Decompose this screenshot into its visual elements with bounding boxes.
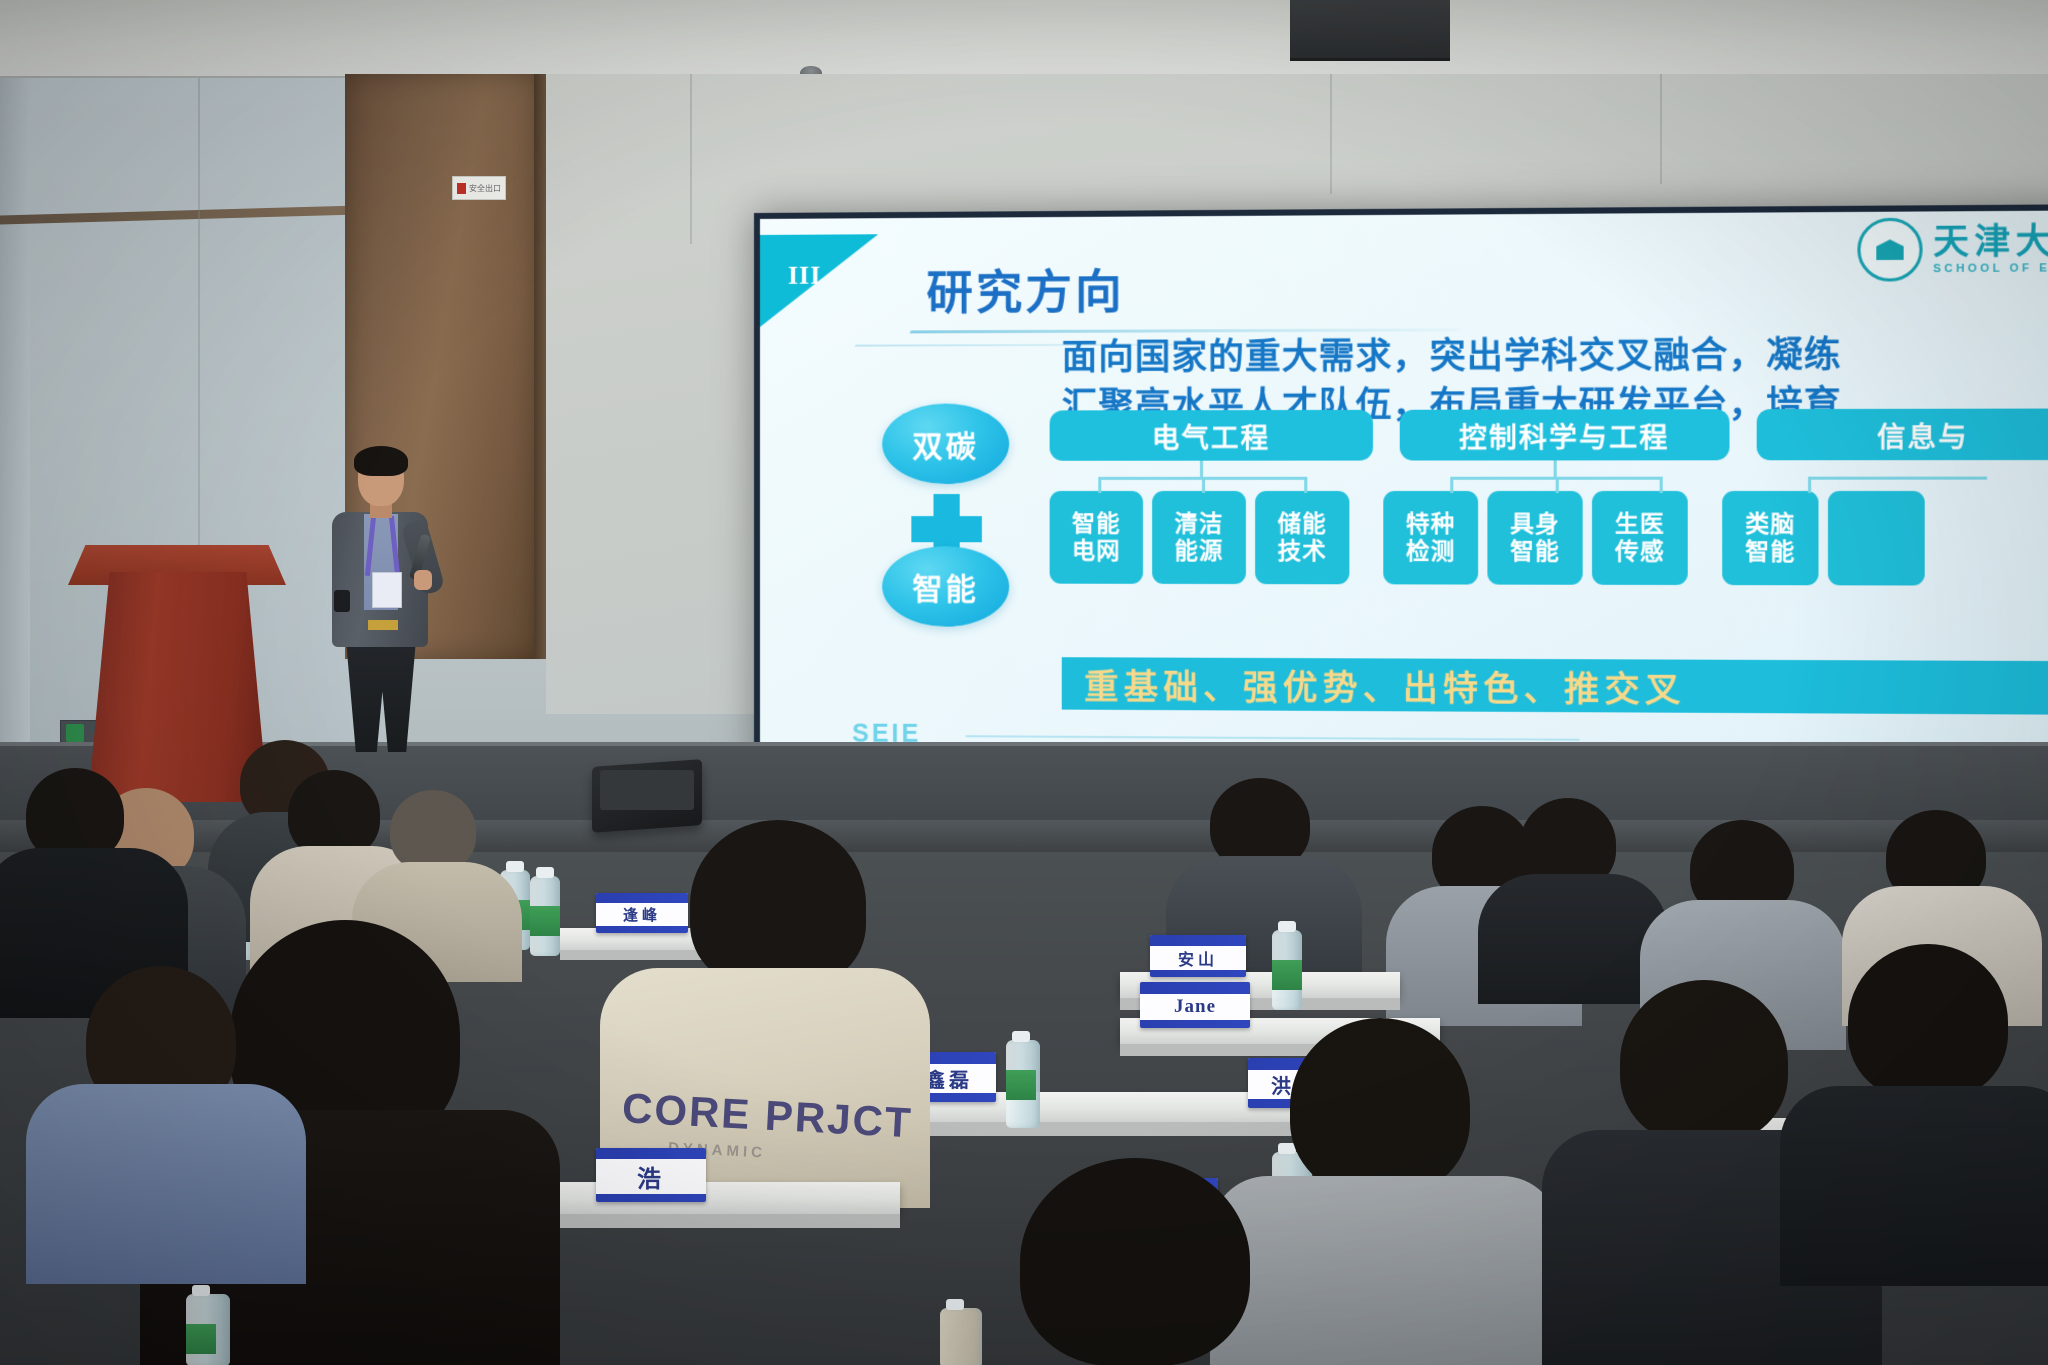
ceiling xyxy=(0,0,2048,78)
audience-shoulders xyxy=(1210,1176,1560,1365)
wall-seam xyxy=(690,74,692,244)
presentation-slide[interactable]: III 研究方向 天津大 SCHOOL OF E 面向国家的重大需求，突出学科交… xyxy=(760,210,2048,772)
screenshot-root: 安全出口 III 研究方向 天津大 SCHOOL OF E 面向国家的重大需求，… xyxy=(0,0,2048,1365)
sub-box-line1: 类脑 xyxy=(1745,510,1795,538)
head-box-2: 信息与 xyxy=(1756,408,2048,460)
research-directions-chart: 电气工程 控制科学与工程 信息与 智能 xyxy=(1050,408,2048,585)
connector-line xyxy=(1202,477,1205,493)
bottle-cap xyxy=(1012,1031,1030,1042)
slide-lead-line-1: 面向国家的重大需求，突出学科交叉融合，凝练 xyxy=(1062,330,2048,383)
nameplate-header xyxy=(596,893,688,903)
sub-box-line2: 技术 xyxy=(1278,538,1327,566)
bottle-label xyxy=(1272,960,1302,990)
audience-head-foreground xyxy=(1290,1018,1470,1196)
sub-box-line1: 具身 xyxy=(1510,510,1560,538)
nameplate-header xyxy=(1140,982,1250,994)
nameplate-1: 逢峰 xyxy=(596,893,688,933)
nameplate-3: Jane xyxy=(1140,982,1250,1028)
pill-shuangtan: 双碳 xyxy=(882,403,1009,484)
audience-shoulders xyxy=(26,1084,306,1284)
audience-head xyxy=(1848,944,2008,1100)
university-name-cn: 天津大 xyxy=(1933,224,2048,260)
nameplate-footer xyxy=(1140,1020,1250,1028)
water-bottle xyxy=(1272,930,1302,1010)
water-bottle xyxy=(186,1294,230,1365)
ceiling-vent xyxy=(1290,0,1450,61)
bottle-cap xyxy=(946,1299,964,1310)
chart-header-row: 电气工程 控制科学与工程 信息与 xyxy=(1050,408,2048,460)
crest-building-glyph xyxy=(1876,239,1903,260)
nameplate-6: 浩 xyxy=(596,1148,706,1202)
slide-title: 研究方向 xyxy=(926,255,1124,322)
wall-seam xyxy=(1330,74,1332,194)
exit-sign-icon: 安全出口 xyxy=(452,176,506,200)
door-sign-label: 安全出口 xyxy=(469,183,501,194)
sub-box-line1: 清洁 xyxy=(1175,510,1224,537)
projection-screen-frame: III 研究方向 天津大 SCHOOL OF E 面向国家的重大需求，突出学科交… xyxy=(754,204,2048,778)
connector-line xyxy=(1808,477,1987,480)
sub-box-line1: 智能 xyxy=(1072,510,1121,537)
bottle-label xyxy=(186,1324,216,1354)
connector-line xyxy=(1808,477,1811,493)
sub-box-line1: 生医 xyxy=(1615,510,1665,538)
nameplate-name: 安山 xyxy=(1150,946,1246,970)
connector-line xyxy=(1450,477,1453,493)
bottle-label xyxy=(530,906,560,936)
sub-box-0: 智能 电网 xyxy=(1050,491,1143,584)
sub-box-line2: 智能 xyxy=(1510,538,1560,566)
bottle-cap xyxy=(192,1285,210,1296)
sub-box-1: 清洁 能源 xyxy=(1152,491,1246,584)
presenter xyxy=(310,450,450,750)
sub-box-line2: 检测 xyxy=(1406,538,1455,566)
sub-box-line1: 储能 xyxy=(1278,510,1327,538)
podium[interactable] xyxy=(88,572,268,802)
wall-seam xyxy=(1660,74,1662,184)
door-frame-edge xyxy=(534,74,546,659)
presenter-hand xyxy=(414,570,432,590)
presenter-hair xyxy=(354,446,408,476)
bottle-cap xyxy=(1278,921,1296,932)
nameplate-header xyxy=(1150,935,1246,946)
nameplate-footer xyxy=(596,926,688,933)
slide-bottom-banner: 重基础、强优势、出特色、推交叉 xyxy=(1062,657,2048,715)
sub-box-3: 特种 检测 xyxy=(1383,491,1478,585)
presenter-badge xyxy=(372,572,402,608)
sub-box-line2: 电网 xyxy=(1072,537,1121,564)
desk-edge xyxy=(560,1214,900,1228)
sub-box-2: 储能 技术 xyxy=(1255,491,1349,584)
chart-subitem-row: 智能 电网 清洁 能源 储能 技术 特种 检测 xyxy=(1050,491,2048,586)
audience-head-foreground xyxy=(1620,980,1788,1144)
audience-head xyxy=(288,770,380,858)
water-bottle xyxy=(530,876,560,956)
university-logo: 天津大 SCHOOL OF E xyxy=(1857,217,2048,282)
nameplate-name: Jane xyxy=(1140,994,1250,1020)
plus-icon-horizontal xyxy=(911,516,982,542)
sub-box-6: 类脑 智能 xyxy=(1722,491,1818,585)
monitor-grill xyxy=(600,770,694,810)
seie-rule xyxy=(966,735,1580,741)
head-box-1: 控制科学与工程 xyxy=(1400,409,1729,460)
bottle-label xyxy=(1006,1070,1036,1100)
sub-box-line2: 智能 xyxy=(1745,538,1795,566)
sub-box-line2: 传感 xyxy=(1615,538,1665,566)
nameplate-header xyxy=(596,1148,706,1159)
audience-head xyxy=(690,820,866,988)
emergency-exit-icon xyxy=(66,724,84,742)
sub-box-line1: 特种 xyxy=(1406,510,1455,538)
audience-shoulders xyxy=(1780,1086,2048,1286)
sub-box-7 xyxy=(1828,491,1925,586)
presenter-legs xyxy=(346,640,416,752)
presenter-belt xyxy=(368,620,398,630)
exit-sign-glyph xyxy=(457,183,466,194)
bottle-cap xyxy=(536,867,554,878)
university-name-en: SCHOOL OF E xyxy=(1933,263,2048,275)
slide-section-number: III xyxy=(788,261,821,291)
presentation-clicker xyxy=(334,590,350,612)
connector-line xyxy=(1304,477,1307,493)
sub-box-5: 生医 传感 xyxy=(1592,491,1688,585)
pill-zhineng: 智能 xyxy=(882,546,1009,627)
sub-box-line2: 能源 xyxy=(1175,537,1224,564)
nameplate-name: 浩 xyxy=(596,1159,706,1194)
head-box-0: 电气工程 xyxy=(1050,410,1374,461)
nameplate-footer xyxy=(596,1194,706,1202)
audience-head xyxy=(390,790,476,872)
connector-line xyxy=(1556,477,1559,493)
water-bottle xyxy=(1006,1040,1040,1128)
sub-box-4: 具身 智能 xyxy=(1487,491,1582,585)
nameplate-name: 逢峰 xyxy=(596,903,688,925)
university-crest-icon xyxy=(1857,218,1922,282)
nameplate-footer xyxy=(1150,970,1246,977)
left-wall-return xyxy=(0,78,30,778)
beverage-bottle xyxy=(940,1308,982,1365)
university-logo-text: 天津大 SCHOOL OF E xyxy=(1933,224,2048,275)
bottle-cap xyxy=(506,861,524,872)
audience-head-foreground xyxy=(1020,1158,1250,1365)
nameplate-2: 安山 xyxy=(1150,935,1246,977)
connector-line xyxy=(1660,477,1663,493)
connector-line xyxy=(1098,477,1101,493)
